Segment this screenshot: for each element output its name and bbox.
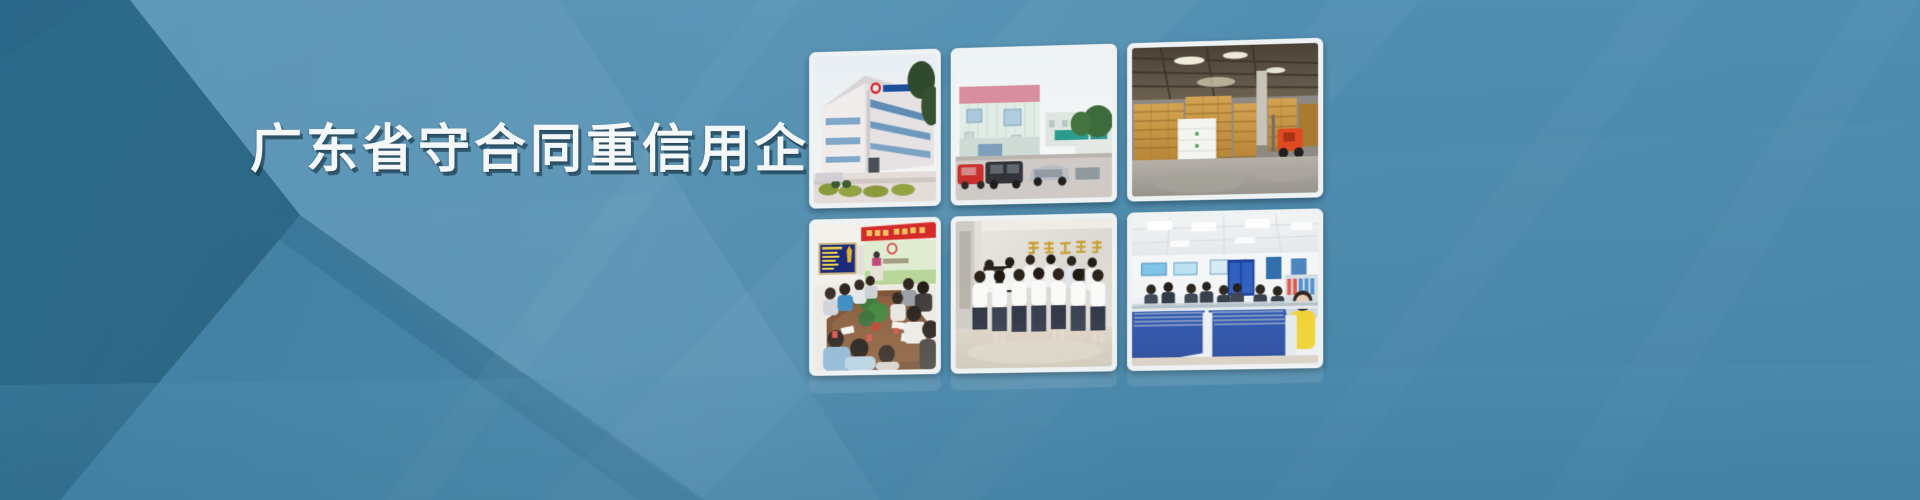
photo-row-bottom bbox=[809, 208, 1330, 376]
factory-exterior-photo[interactable] bbox=[809, 49, 941, 209]
conference-meeting-image bbox=[814, 222, 936, 371]
photo-gallery bbox=[809, 37, 1330, 383]
warehouse-storage-image bbox=[1132, 43, 1318, 197]
staff-group-image bbox=[956, 218, 1112, 369]
photo-row-top bbox=[809, 37, 1330, 208]
workshop-building-photo[interactable] bbox=[951, 44, 1117, 206]
office-interior-photo[interactable] bbox=[1127, 208, 1323, 371]
factory-exterior-image bbox=[814, 54, 936, 204]
conference-meeting-photo[interactable] bbox=[809, 217, 941, 376]
office-interior-image bbox=[1132, 214, 1318, 366]
page-title: 广东省守合同重信用企业 bbox=[250, 124, 866, 176]
promo-banner: 广东省守合同重信用企业 bbox=[0, 0, 1920, 500]
staff-group-photo[interactable] bbox=[951, 213, 1117, 374]
workshop-building-image bbox=[956, 49, 1112, 201]
warehouse-storage-photo[interactable] bbox=[1127, 38, 1323, 202]
